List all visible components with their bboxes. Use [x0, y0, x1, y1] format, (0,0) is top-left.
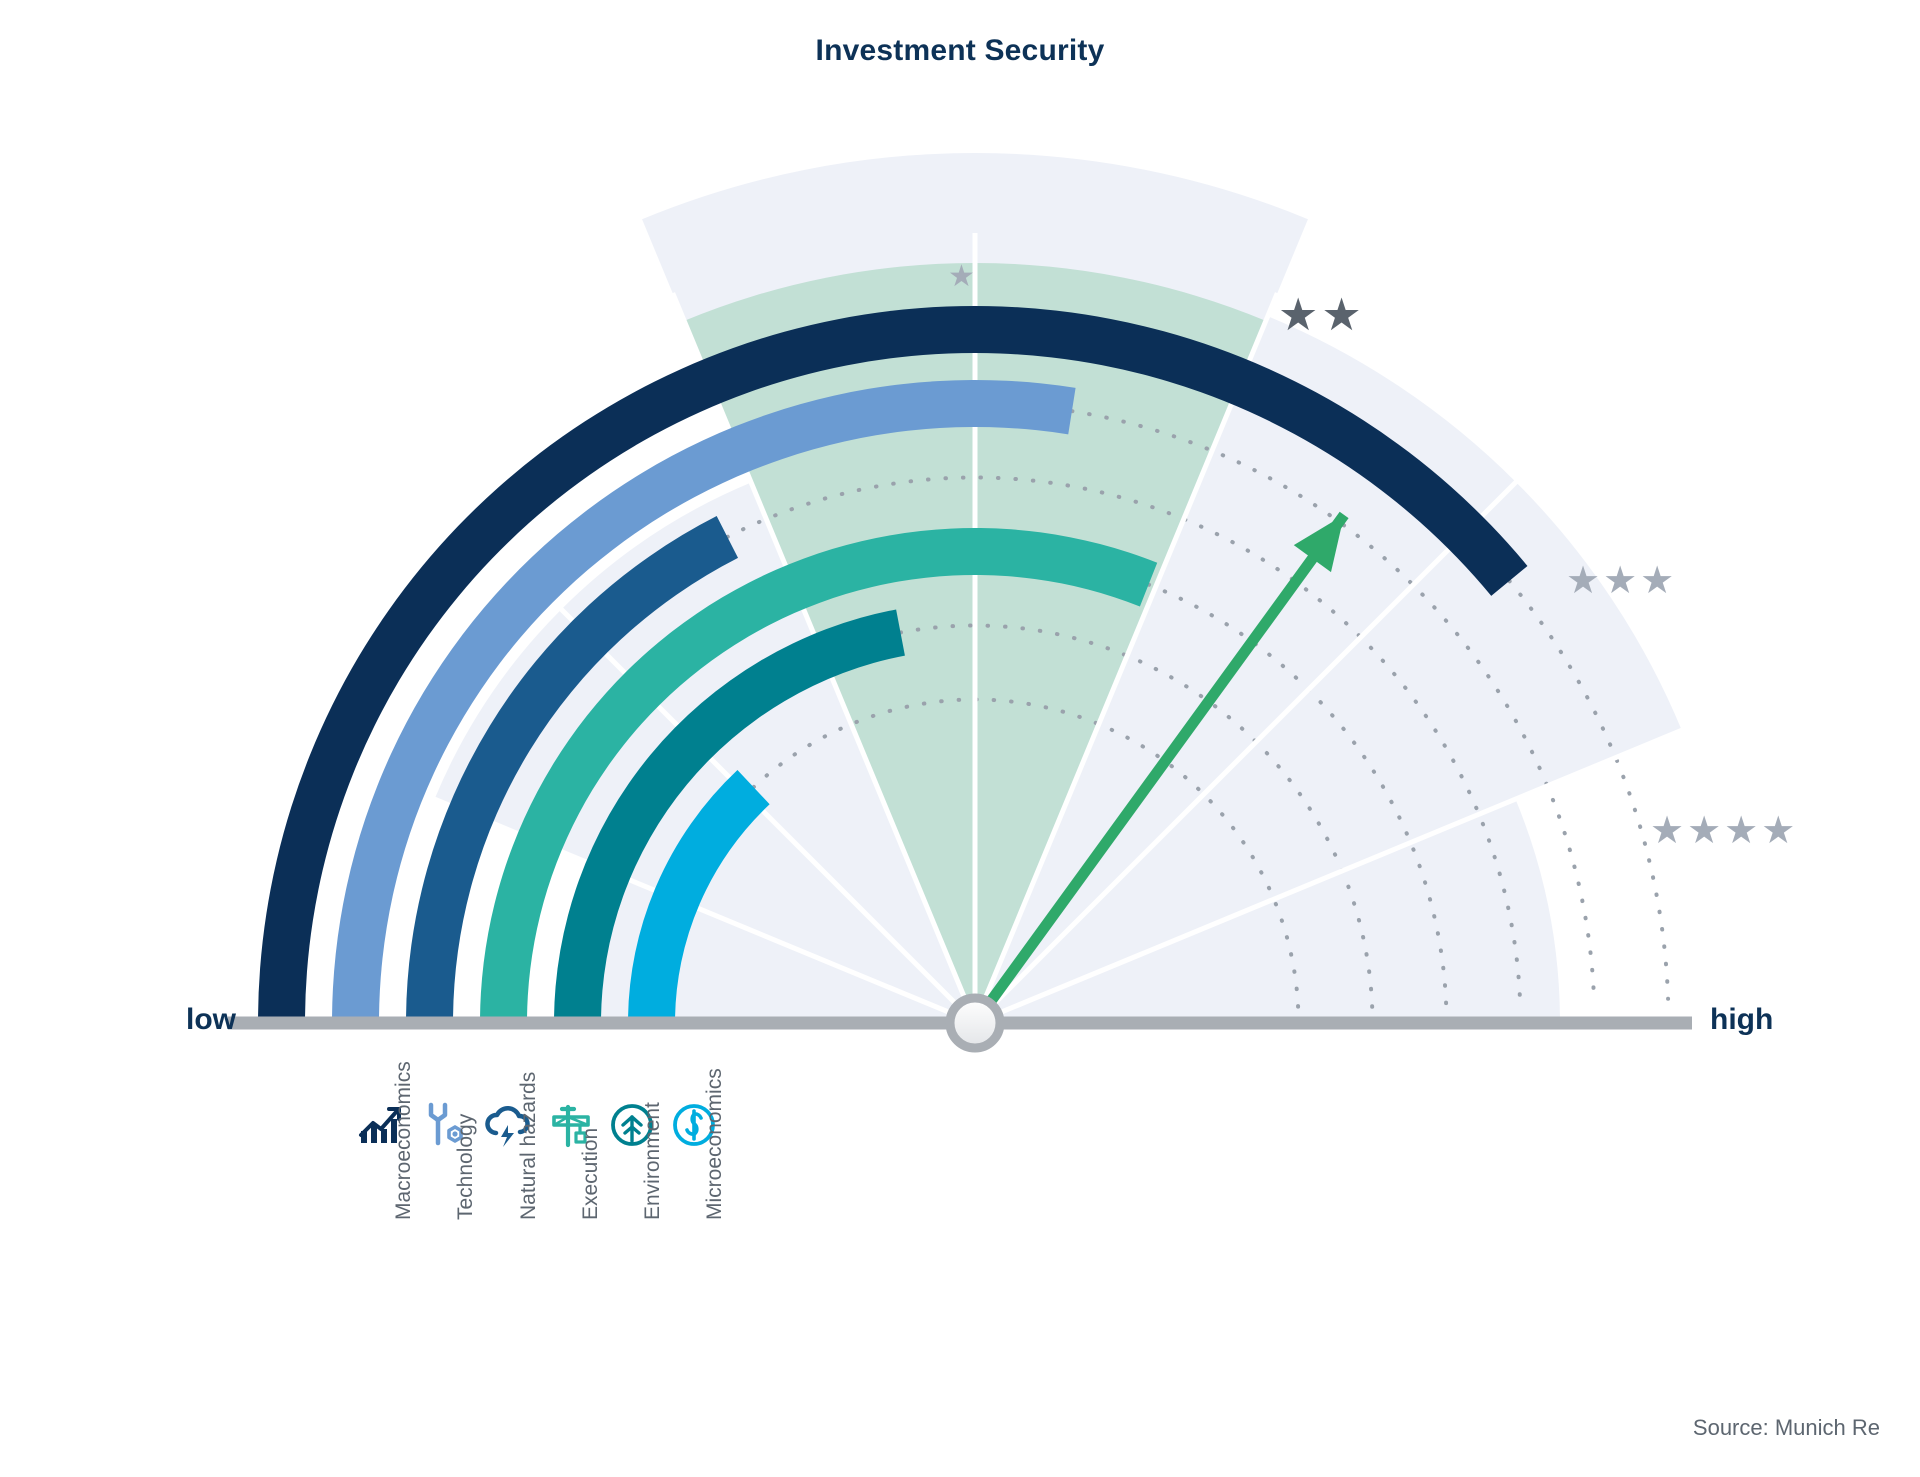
rating-two-star: ★★ [1278, 292, 1365, 337]
rating-one-star: ★ [948, 262, 978, 292]
star-icon: ★ [948, 262, 978, 292]
star-icon: ★ [1687, 812, 1724, 850]
storm-cloud-icon-part [501, 1125, 514, 1147]
star-icon: ★ [1761, 812, 1798, 850]
star-icon: ★ [1650, 812, 1687, 850]
page-title: Investment Security [0, 34, 1920, 68]
star-icon: ★ [1640, 562, 1677, 600]
rating-four-star: ★★★★ [1650, 812, 1798, 850]
star-icon: ★ [1724, 812, 1761, 850]
rating-three-star: ★★★ [1566, 562, 1677, 600]
category-label-natural-hazards: Natural hazards [517, 1072, 541, 1220]
source-note: Source: Munich Re [1693, 1415, 1880, 1441]
category-label-macroeconomics: Macroeconomics [392, 1061, 416, 1220]
gauge-hub [950, 998, 1000, 1048]
growth-chart-icon-part [361, 1131, 367, 1143]
category-label-environment: Environment [641, 1102, 665, 1220]
axis-low-label: low [186, 1003, 236, 1037]
growth-chart-icon-part [371, 1125, 377, 1143]
category-label-microeconomics: Microeconomics [703, 1068, 727, 1220]
star-icon: ★ [1278, 292, 1321, 337]
gauge-svg [0, 0, 1920, 1477]
star-icon: ★ [1603, 562, 1640, 600]
star-icon: ★ [1321, 292, 1364, 337]
gauge-chart [0, 0, 1920, 1477]
category-label-technology: Technology [454, 1114, 478, 1220]
star-icon: ★ [1566, 562, 1603, 600]
category-label-execution: Execution [579, 1128, 603, 1220]
growth-chart-icon-part [381, 1129, 387, 1143]
axis-high-label: high [1710, 1003, 1773, 1037]
